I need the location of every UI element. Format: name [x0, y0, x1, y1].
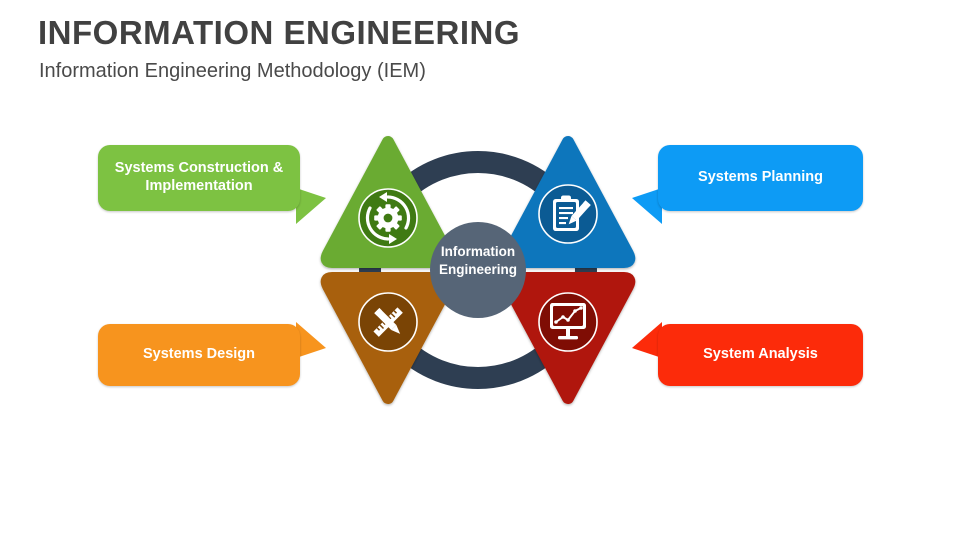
callout-label-line1: Systems Planning	[698, 169, 823, 187]
callout-tail-systems-design	[296, 322, 326, 358]
pencil-ruler-icon	[359, 293, 417, 351]
gear-sync-icon	[359, 189, 417, 247]
presentation-chart-icon	[539, 293, 597, 351]
callout-systems-planning[interactable]: Systems Planning	[658, 145, 863, 211]
clipboard-pencil-icon	[539, 185, 597, 243]
callout-systems-construction-implementation[interactable]: Systems Construction & Implementation	[98, 145, 300, 211]
callout-label-line2: Implementation	[115, 178, 283, 196]
center-hub-label-line1: Information	[441, 244, 515, 259]
center-hub-label: Information Engineering	[434, 243, 522, 278]
callout-systems-design[interactable]: Systems Design	[98, 324, 300, 386]
slide-canvas: INFORMATION ENGINEERING Information Engi…	[0, 0, 960, 540]
callout-system-analysis[interactable]: System Analysis	[658, 324, 863, 386]
callout-label-line1: Systems Construction &	[115, 160, 283, 178]
center-hub-label-line2: Engineering	[439, 262, 517, 277]
callout-label-line1: Systems Design	[143, 346, 255, 364]
callout-tail-systems-construction-implementation	[296, 188, 326, 224]
iem-cycle-diagram: Information Engineering Systems Construc…	[0, 0, 960, 540]
callout-label-line1: System Analysis	[703, 346, 818, 364]
